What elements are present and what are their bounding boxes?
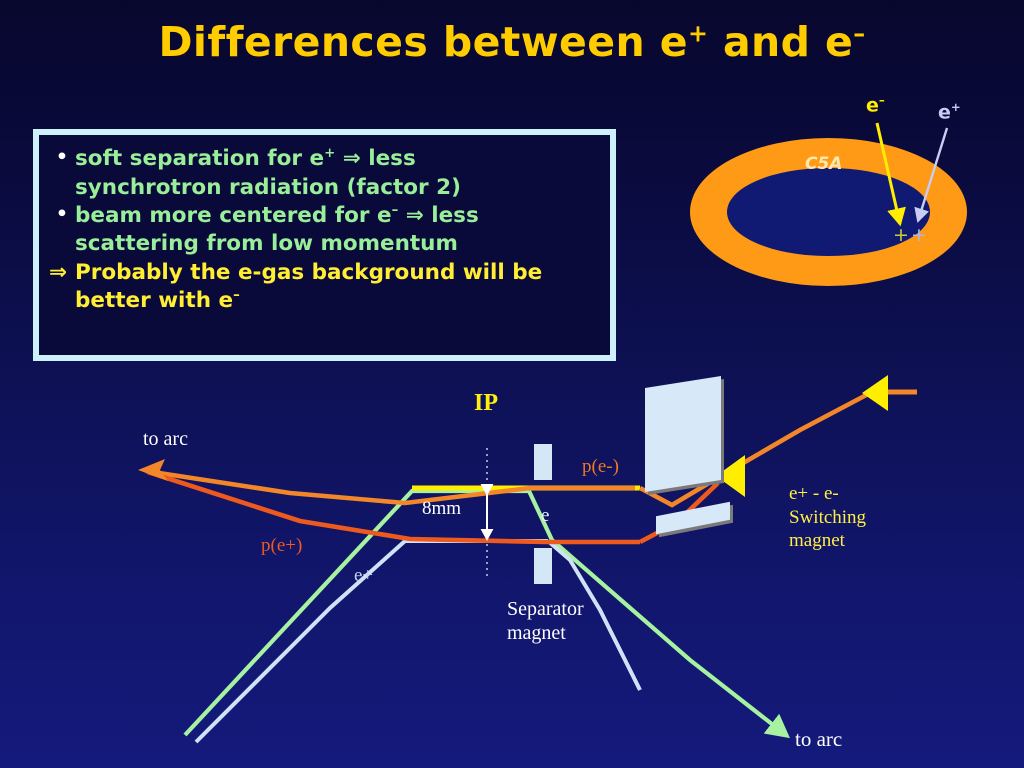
page-title-sup-minus: – <box>853 19 865 47</box>
proton-eminus-line <box>146 471 635 503</box>
bullet-2-line1-pre: beam more centered for e <box>75 203 392 228</box>
bullet-marker: • <box>49 202 75 259</box>
separator-magnet-label-line1: Separator <box>507 597 584 621</box>
ring-plus-mark-electron: + <box>893 224 909 246</box>
page-title-sup-plus: + <box>688 19 708 47</box>
green-beam-left-branch <box>185 491 529 735</box>
switching-magnet-label: e+ - e- Switching magnet <box>789 482 866 553</box>
to-arc-left-arrowhead <box>138 459 168 481</box>
page-title-text: Differences between e <box>158 18 688 66</box>
switching-magnet-label-line3: magnet <box>789 529 866 553</box>
bullet-2-line1-post: ⇒ less <box>398 203 479 228</box>
bullet-item-2: • beam more centered for e– ⇒ less scatt… <box>49 202 602 259</box>
bullet-item-1: • soft separation for e+ ⇒ less synchrot… <box>49 145 602 202</box>
page-title-text-mid: and e <box>708 18 853 66</box>
bullet-1-line1-post: ⇒ less <box>335 146 416 171</box>
ring-label-c5a: C5A <box>805 154 842 174</box>
slide-canvas: Differences between e+ and e– • soft sep… <box>0 0 1024 768</box>
proton-eplus-line <box>148 472 640 542</box>
ring-plus-mark-positron: + <box>911 224 927 246</box>
to-arc-left-label: to arc <box>143 428 188 451</box>
bullet-1-sup: + <box>324 146 335 161</box>
switching-magnet-label-line1: e+ - e- <box>789 482 866 506</box>
electron-beam-label: e <box>541 505 549 527</box>
bullet-text: soft separation for e+ ⇒ less synchrotro… <box>75 145 602 202</box>
separator-magnet-pole-top <box>534 444 552 480</box>
bullet-3-line2-pre: better with e <box>75 288 233 313</box>
bullet-3-line1: Probably the e-gas background will be <box>75 260 542 285</box>
ip-label: IP <box>474 390 498 417</box>
bullet-1-line1-pre: soft separation for e <box>75 146 324 171</box>
ring-positron-label: e+ <box>938 100 961 123</box>
proton-eplus-label: p(e+) <box>261 535 302 557</box>
switching-magnet-symbol-2 <box>862 375 888 411</box>
bullet-marker: • <box>49 145 75 202</box>
proton-eminus-label: p(e-) <box>582 456 619 478</box>
switching-magnet-pole-top <box>645 376 721 492</box>
bullet-item-3: ⇒ Probably the e-gas background will be … <box>49 259 602 316</box>
page-title: Differences between e+ and e– <box>0 18 1024 66</box>
switching-magnet-label-line2: Switching <box>789 506 866 530</box>
bullet-textbox: • soft separation for e+ ⇒ less synchrot… <box>33 129 616 361</box>
bullet-3-sup: – <box>233 288 240 303</box>
implies-marker: ⇒ <box>49 259 75 316</box>
separator-magnet-pole-bottom <box>534 548 552 584</box>
separator-magnet-label: Separator magnet <box>507 597 584 646</box>
bullet-1-line2: synchrotron radiation (factor 2) <box>75 175 461 200</box>
ring-electron-label: e– <box>866 93 885 116</box>
bullet-text: beam more centered for e– ⇒ less scatter… <box>75 202 602 259</box>
bullet-text: Probably the e-gas background will be be… <box>75 259 602 316</box>
separator-magnet-label-line2: magnet <box>507 621 584 645</box>
positron-beam-label: e+ <box>354 565 373 587</box>
gap-label-8mm: 8mm <box>422 498 461 520</box>
to-arc-right-label: to arc <box>795 727 842 752</box>
bullet-2-line2: scattering from low momentum <box>75 231 458 256</box>
